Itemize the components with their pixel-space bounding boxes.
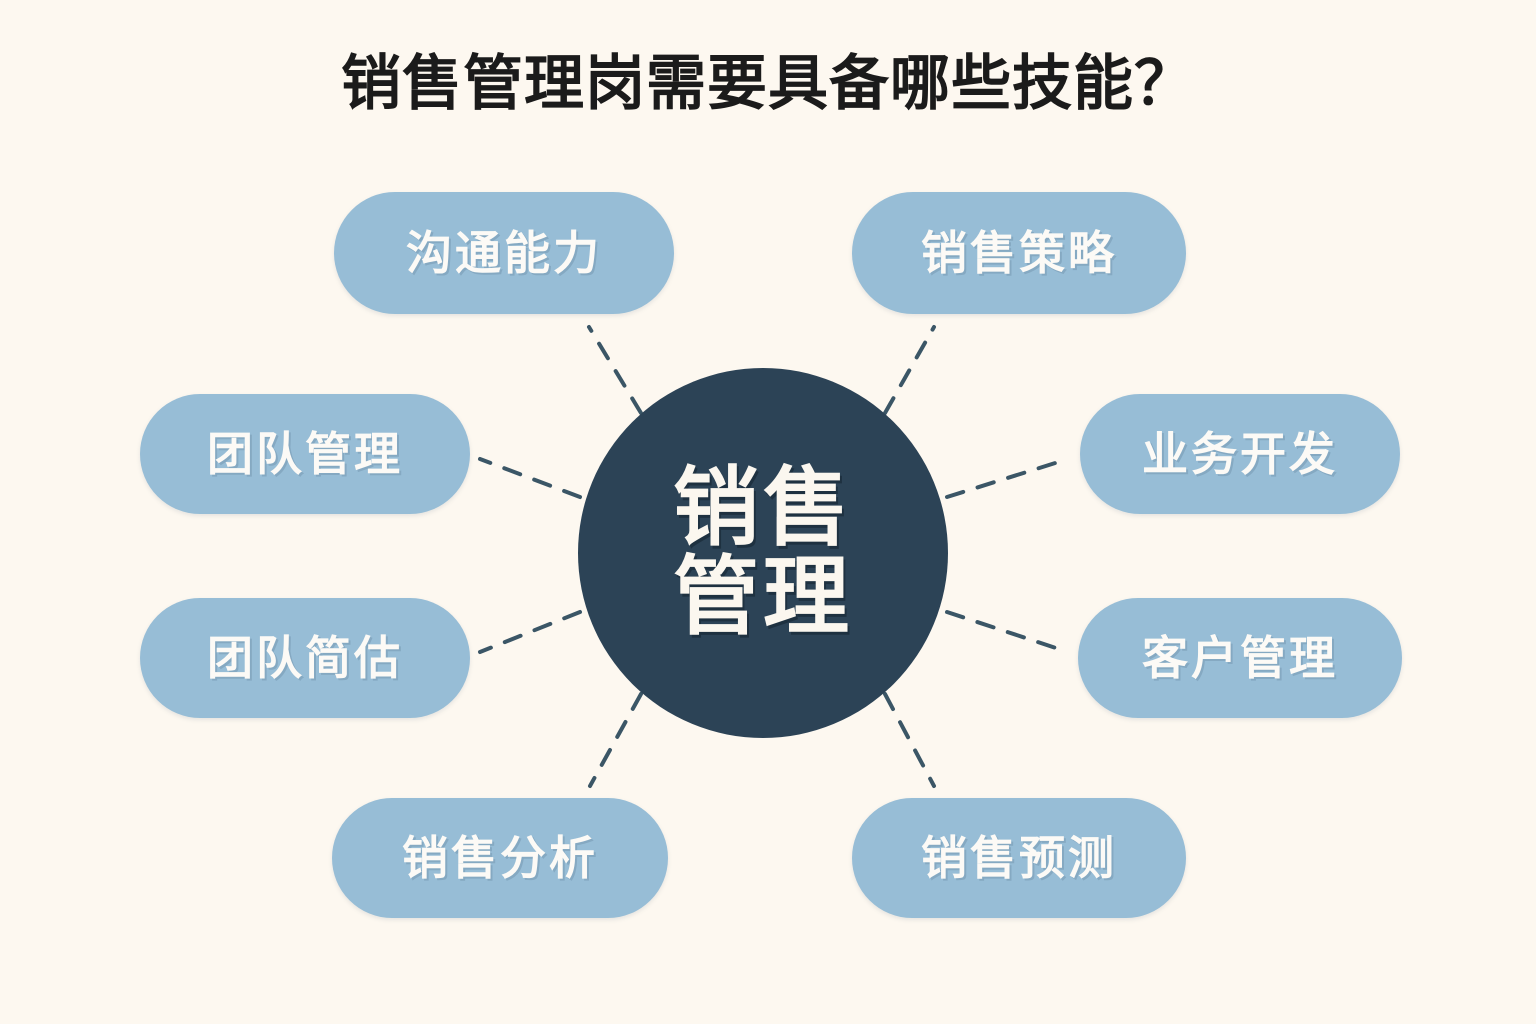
skill-node-customer-management[interactable]: 客户管理	[1078, 598, 1402, 718]
skill-label-communication: 沟通能力	[406, 230, 602, 276]
skill-label-business-development: 业务开发	[1142, 431, 1338, 477]
skill-label-team-evaluation: 团队简估	[207, 635, 403, 681]
skill-node-sales-analysis[interactable]: 销售分析	[332, 798, 668, 918]
connector-to-team-management	[480, 459, 580, 497]
skill-label-sales-analysis: 销售分析	[402, 835, 598, 881]
connector-to-team-evaluation	[480, 612, 580, 652]
connector-to-communication	[589, 327, 641, 413]
diagram-canvas: 销售管理岗需要具备哪些技能？ 销售 管理 沟通能力 销售策略 团队管理 业务开发…	[0, 0, 1536, 1024]
skill-label-team-management: 团队管理	[207, 431, 403, 477]
skill-node-team-management[interactable]: 团队管理	[140, 394, 470, 514]
skill-node-sales-forecast[interactable]: 销售预测	[852, 798, 1186, 918]
connector-to-sales-forecast	[885, 694, 934, 786]
connector-to-sales-analysis	[590, 694, 641, 786]
connector-to-customer-mgmt	[947, 612, 1068, 652]
connector-to-biz-development	[947, 459, 1068, 497]
skill-label-sales-strategy: 销售策略	[921, 230, 1117, 276]
skill-label-sales-forecast: 销售预测	[921, 835, 1117, 881]
skill-node-team-evaluation[interactable]: 团队简估	[140, 598, 470, 718]
skill-label-customer-management: 客户管理	[1142, 635, 1338, 681]
page-title: 销售管理岗需要具备哪些技能？	[0, 52, 1536, 117]
skill-node-communication[interactable]: 沟通能力	[334, 192, 674, 314]
center-node-sales-management[interactable]: 销售 管理	[578, 368, 948, 738]
skill-node-sales-strategy[interactable]: 销售策略	[852, 192, 1186, 314]
skill-node-business-development[interactable]: 业务开发	[1080, 394, 1400, 514]
center-node-label-line1: 销售	[673, 464, 853, 553]
center-node-label-line2: 管理	[673, 553, 853, 642]
connector-to-sales-strategy	[885, 327, 934, 413]
